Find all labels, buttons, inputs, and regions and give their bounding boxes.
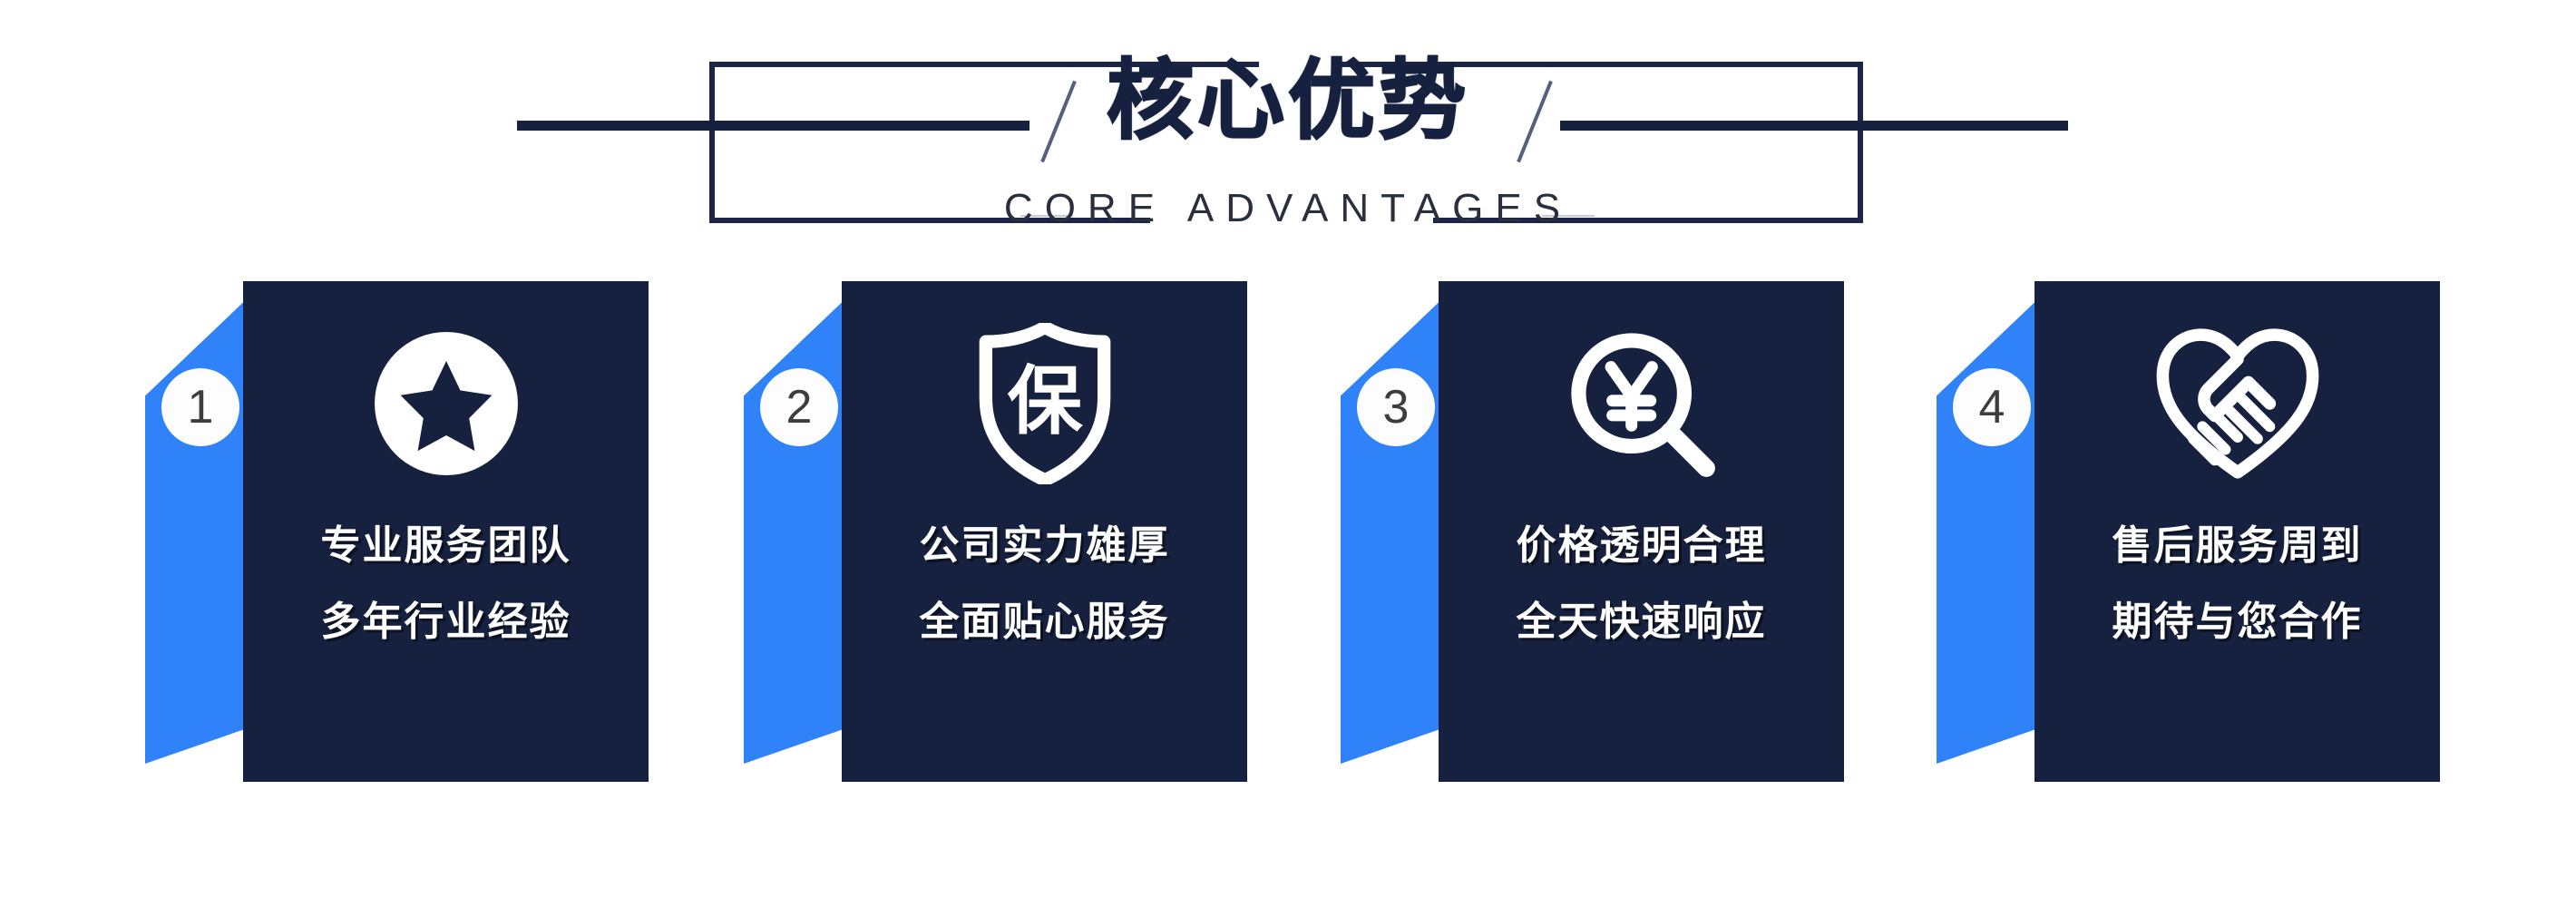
card-number-badge: 1	[161, 368, 239, 446]
card-text: 售后服务周到 期待与您合作	[2034, 508, 2440, 660]
card-body: 保 公司实力雄厚 全面贴心服务	[842, 281, 1247, 782]
card-text-line2: 多年行业经验	[243, 584, 649, 660]
card-text-line1: 售后服务周到	[2034, 508, 2440, 584]
card-tab	[1937, 292, 2045, 764]
advantage-card[interactable]: 4 售后服务周到 期待与您合作	[1937, 281, 2440, 789]
card-number-badge: 3	[1357, 368, 1435, 446]
advantage-card[interactable]: 1 专业服务团队 多年行业经验	[145, 281, 649, 789]
card-tab	[145, 292, 254, 764]
card-text: 专业服务团队 多年行业经验	[243, 508, 649, 660]
card-text-line2: 全面贴心服务	[842, 584, 1247, 660]
page-title: 核心优势	[0, 58, 2576, 145]
yuan-magnifier-icon	[1439, 317, 1844, 490]
advantage-card-list: 1 专业服务团队 多年行业经验 2 保	[0, 281, 2576, 825]
star-circle-icon	[243, 317, 649, 490]
card-text-line2: 期待与您合作	[2034, 584, 2440, 660]
handshake-heart-icon	[2034, 317, 2440, 490]
card-body: 专业服务团队 多年行业经验	[243, 281, 649, 782]
card-text-line1: 公司实力雄厚	[842, 508, 1247, 584]
card-number-badge: 4	[1953, 368, 2031, 446]
card-text: 价格透明合理 全天快速响应	[1439, 508, 1844, 660]
card-text-line1: 专业服务团队	[243, 508, 649, 584]
svg-text:保: 保	[1007, 358, 1083, 443]
page-subtitle: CORE ADVANTAGES	[0, 189, 2576, 229]
card-body: 售后服务周到 期待与您合作	[2034, 281, 2440, 782]
card-tab	[744, 292, 853, 764]
header-banner: 核心优势 CORE ADVANTAGES	[0, 0, 2576, 272]
card-tab	[1341, 292, 1449, 764]
card-text-line2: 全天快速响应	[1439, 584, 1844, 660]
card-text: 公司实力雄厚 全面贴心服务	[842, 508, 1247, 660]
advantage-card[interactable]: 2 保 公司实力雄厚 全面贴心服务	[744, 281, 1247, 789]
card-text-line1: 价格透明合理	[1439, 508, 1844, 584]
shield-guarantee-icon: 保	[842, 317, 1247, 490]
card-number-badge: 2	[760, 368, 838, 446]
advantage-card[interactable]: 3 价格透明合理 全天快速响应	[1341, 281, 1844, 789]
card-body: 价格透明合理 全天快速响应	[1439, 281, 1844, 782]
